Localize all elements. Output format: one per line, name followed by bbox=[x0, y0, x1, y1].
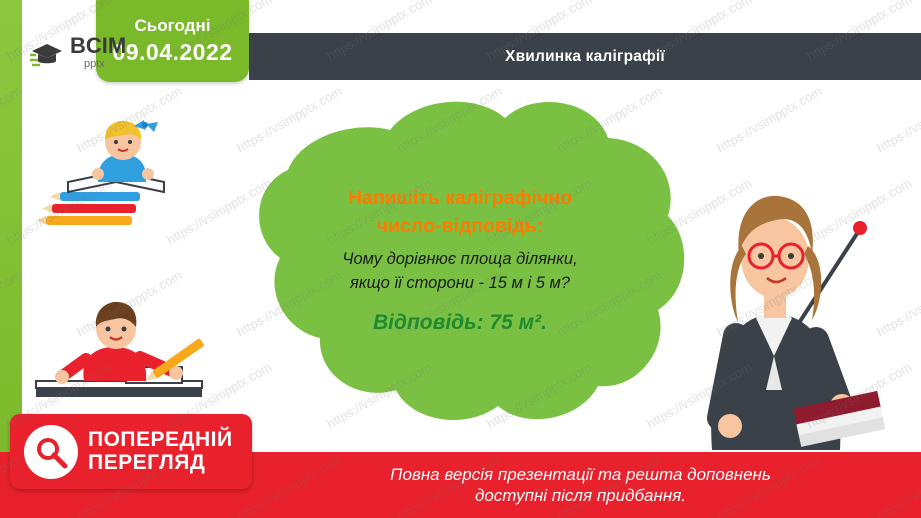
cloud-text-block: Напишіть каліграфічно число-відповідь: Ч… bbox=[250, 95, 670, 425]
cloud-answer: Відповідь: 75 м². bbox=[373, 311, 547, 335]
presentation-slide: Напишіть каліграфічно число-відповідь: Ч… bbox=[0, 0, 921, 518]
preview-button-line2: ПЕРЕГЛЯД bbox=[88, 452, 233, 474]
watermark-text: https://vsimpptx.com bbox=[874, 83, 921, 155]
preview-button-line1: ПОПЕРЕДНІЙ bbox=[88, 429, 233, 451]
boy-writing-illustration bbox=[30, 295, 210, 415]
watermark-text: https://vsimpptx.com bbox=[714, 83, 824, 155]
cloud-question-line2: якщо її сторони - 15 м і 5 м? bbox=[350, 272, 570, 296]
cloud-heading-line1: Напишіть каліграфічно bbox=[348, 185, 572, 211]
logo-brand-text: BCIM bbox=[70, 35, 126, 57]
magnifier-icon bbox=[24, 425, 78, 479]
bottom-notice-line1: Повна версія презентації та решта доповн… bbox=[390, 464, 771, 485]
bottom-notice-line2: доступні після придбання. bbox=[475, 485, 686, 506]
girl-reading-illustration bbox=[38, 120, 198, 240]
teacher-illustration bbox=[640, 150, 921, 470]
cloud-question-line1: Чому дорівнює площа ділянки, bbox=[342, 248, 577, 272]
slide-header-bar: Хвилинка каліграфії bbox=[249, 33, 921, 80]
logo-suffix-text: pptx bbox=[84, 59, 126, 70]
brand-logo[interactable]: BCIM pptx bbox=[30, 30, 150, 74]
preview-button[interactable]: ПОПЕРЕДНІЙ ПЕРЕГЛЯД bbox=[10, 414, 252, 489]
graduation-cap-icon bbox=[30, 37, 64, 67]
cloud-heading-line2: число-відповідь: bbox=[377, 213, 543, 239]
slide-title: Хвилинка каліграфії bbox=[505, 48, 665, 66]
